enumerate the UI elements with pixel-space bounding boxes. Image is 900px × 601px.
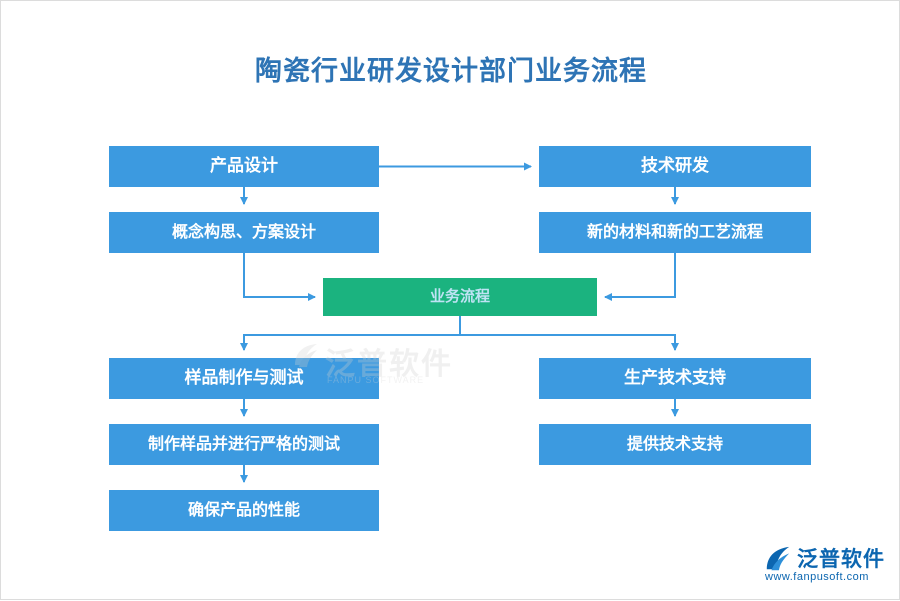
node-provide-support[interactable]: 提供技术支持 (539, 424, 811, 465)
node-product-design[interactable]: 产品设计 (109, 146, 379, 187)
logo-leaf-icon (763, 545, 793, 573)
logo-name: 泛普软件 (797, 543, 885, 573)
node-new-material[interactable]: 新的材料和新的工艺流程 (539, 212, 811, 253)
page-title: 陶瓷行业研发设计部门业务流程 (1, 49, 900, 88)
node-tech-rd[interactable]: 技术研发 (539, 146, 811, 187)
node-ensure-performance[interactable]: 确保产品的性能 (109, 490, 379, 531)
node-sample-making[interactable]: 样品制作与测试 (109, 358, 379, 399)
node-business-flow[interactable]: 业务流程 (323, 278, 597, 316)
logo-url: www.fanpusoft.com (765, 571, 869, 583)
node-production-support[interactable]: 生产技术支持 (539, 358, 811, 399)
node-concept-scheme[interactable]: 概念构思、方案设计 (109, 212, 379, 253)
node-sample-strict-test[interactable]: 制作样品并进行严格的测试 (109, 424, 379, 465)
brand-logo: 泛普软件 www.fanpusoft.com (763, 543, 891, 589)
diagram-canvas: 陶瓷行业研发设计部门业务流程 (0, 0, 900, 600)
